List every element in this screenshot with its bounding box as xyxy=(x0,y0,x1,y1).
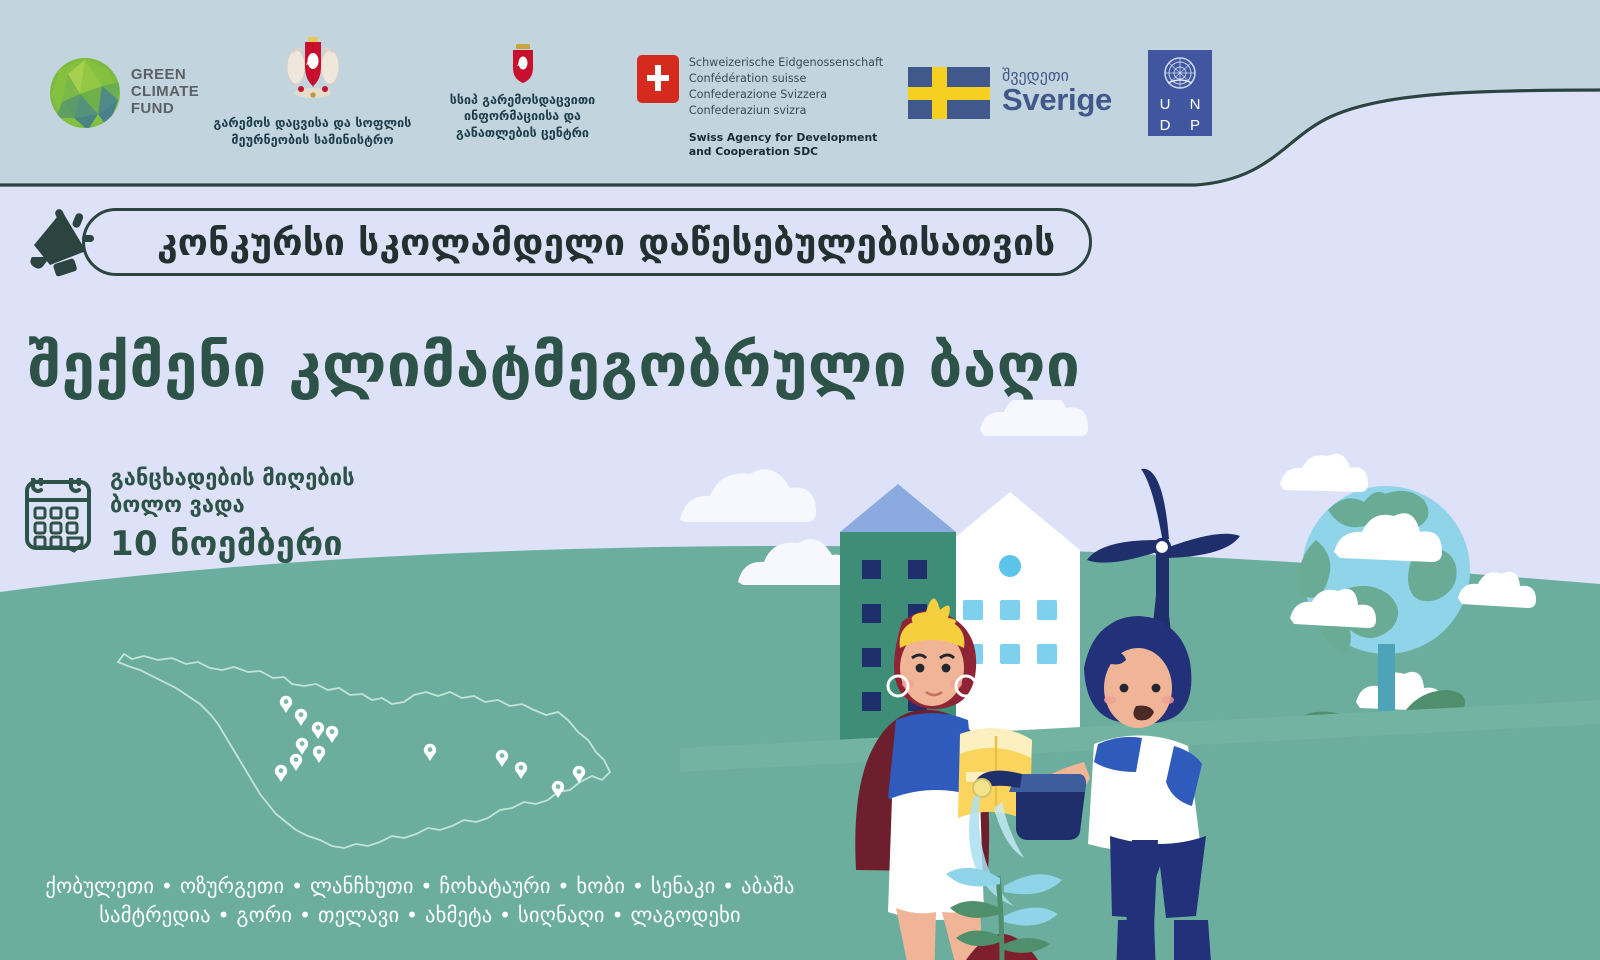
logo-swiss-sdc: Schweizerische Eidgenossenschaft Confédé… xyxy=(625,25,895,160)
megaphone-icon xyxy=(26,205,98,279)
page-title: შექმენი კლიმატმეგობრული ბაღი xyxy=(28,336,1080,396)
swiss-cross-icon xyxy=(637,55,679,103)
undp-letter-d: D xyxy=(1151,116,1179,135)
swiss-confederation-names: Schweizerische Eidgenossenschaft Confédé… xyxy=(689,55,883,119)
sdc-line-2: and Cooperation SDC xyxy=(689,145,883,160)
georgia-coat-of-arms-small-icon xyxy=(506,44,540,88)
swiss-sdc-name: Swiss Agency for Development and Coopera… xyxy=(689,131,883,160)
gcf-line-1: GREEN xyxy=(131,67,199,84)
badge-pill: კონკურსი სკოლამდელი დაწესებულებისათვის xyxy=(82,208,1092,276)
swiss-line-de: Schweizerische Eidgenossenschaft xyxy=(689,55,883,71)
eic-line-2: ინფორმაციისა და xyxy=(450,108,595,124)
logo-eic-text: სსიპ გარემოსდაცვითი ინფორმაციისა და განა… xyxy=(450,92,595,141)
logo-undp: U N D P xyxy=(1125,50,1235,136)
swiss-line-fr: Confédération suisse xyxy=(689,71,883,87)
competition-badge: კონკურსი სკოლამდელი დაწესებულებისათვის xyxy=(26,205,1092,279)
sdc-line-1: Swiss Agency for Development xyxy=(689,131,883,146)
undp-letters: U N D P xyxy=(1151,95,1209,135)
badge-label: კონკურსი სკოლამდელი დაწესებულებისათვის xyxy=(157,224,1055,261)
ministry-line-1: გარემოს დაცვისა და სოფლის xyxy=(214,115,412,131)
poster-canvas: GREEN CLIMATE FUND xyxy=(0,0,1600,960)
deadline-block: განცხადების მიღების ბოლო ვადა 10 ნოემბერ… xyxy=(22,466,355,563)
cities-line-1: ქობულეთი • ოზურგეთი • ლანჩხუთი • ჩოხატაუ… xyxy=(0,872,840,901)
deadline-label-line-2: ბოლო ვადა xyxy=(110,493,355,520)
eic-line-1: სსიპ გარემოსდაცვითი xyxy=(450,92,595,108)
ministry-line-2: მეურნეობის სამინისტრო xyxy=(214,132,412,148)
swiss-line-rm: Confederaziun svizra xyxy=(689,103,883,119)
sweden-flag-icon xyxy=(908,67,990,119)
logo-sverige: შვედეთი Sverige xyxy=(895,67,1125,119)
logo-ministry-text: გარემოს დაცვისა და სოფლის მეურნეობის სამ… xyxy=(214,115,412,148)
polygon-globe-icon xyxy=(48,56,122,130)
deadline-label-line-1: განცხადების მიღების xyxy=(110,466,355,493)
deadline-date: 10 ნოემბერი xyxy=(110,526,355,563)
georgia-outline-map xyxy=(110,640,630,894)
gcf-line-3: FUND xyxy=(131,101,199,118)
gcf-line-2: CLIMATE xyxy=(131,84,199,101)
undp-letter-p: P xyxy=(1181,116,1209,135)
logo-environmental-information-center: სსიპ გარემოსდაცვითი ინფორმაციისა და განა… xyxy=(420,44,625,141)
undp-letter-u: U xyxy=(1151,95,1179,114)
eic-line-3: განათლების ცენტრი xyxy=(450,125,595,141)
swiss-line-it: Confederazione Svizzera xyxy=(689,87,883,103)
participating-cities-list: ქობულეთი • ოზურგეთი • ლანჩხუთი • ჩოხატაუ… xyxy=(0,872,840,930)
undp-box: U N D P xyxy=(1148,50,1212,136)
logo-green-climate-fund-text: GREEN CLIMATE FUND xyxy=(131,67,199,117)
deadline-text: განცხადების მიღების ბოლო ვადა 10 ნოემბერ… xyxy=(110,466,355,563)
logo-green-climate-fund: GREEN CLIMATE FUND xyxy=(0,56,205,130)
undp-letter-n: N xyxy=(1181,95,1209,114)
logo-ministry-of-environment-georgia: გარემოს დაცვისა და სოფლის მეურნეობის სამ… xyxy=(205,37,420,148)
un-emblem-icon xyxy=(1151,53,1209,93)
calendar-icon xyxy=(22,470,94,554)
sverige-label: Sverige xyxy=(1002,84,1112,117)
cities-line-2: სამტრედია • გორი • თელავი • ახმეტა • სიღ… xyxy=(0,901,840,930)
partner-logos-row: GREEN CLIMATE FUND xyxy=(0,0,1250,185)
georgia-coat-of-arms-icon xyxy=(284,37,342,111)
